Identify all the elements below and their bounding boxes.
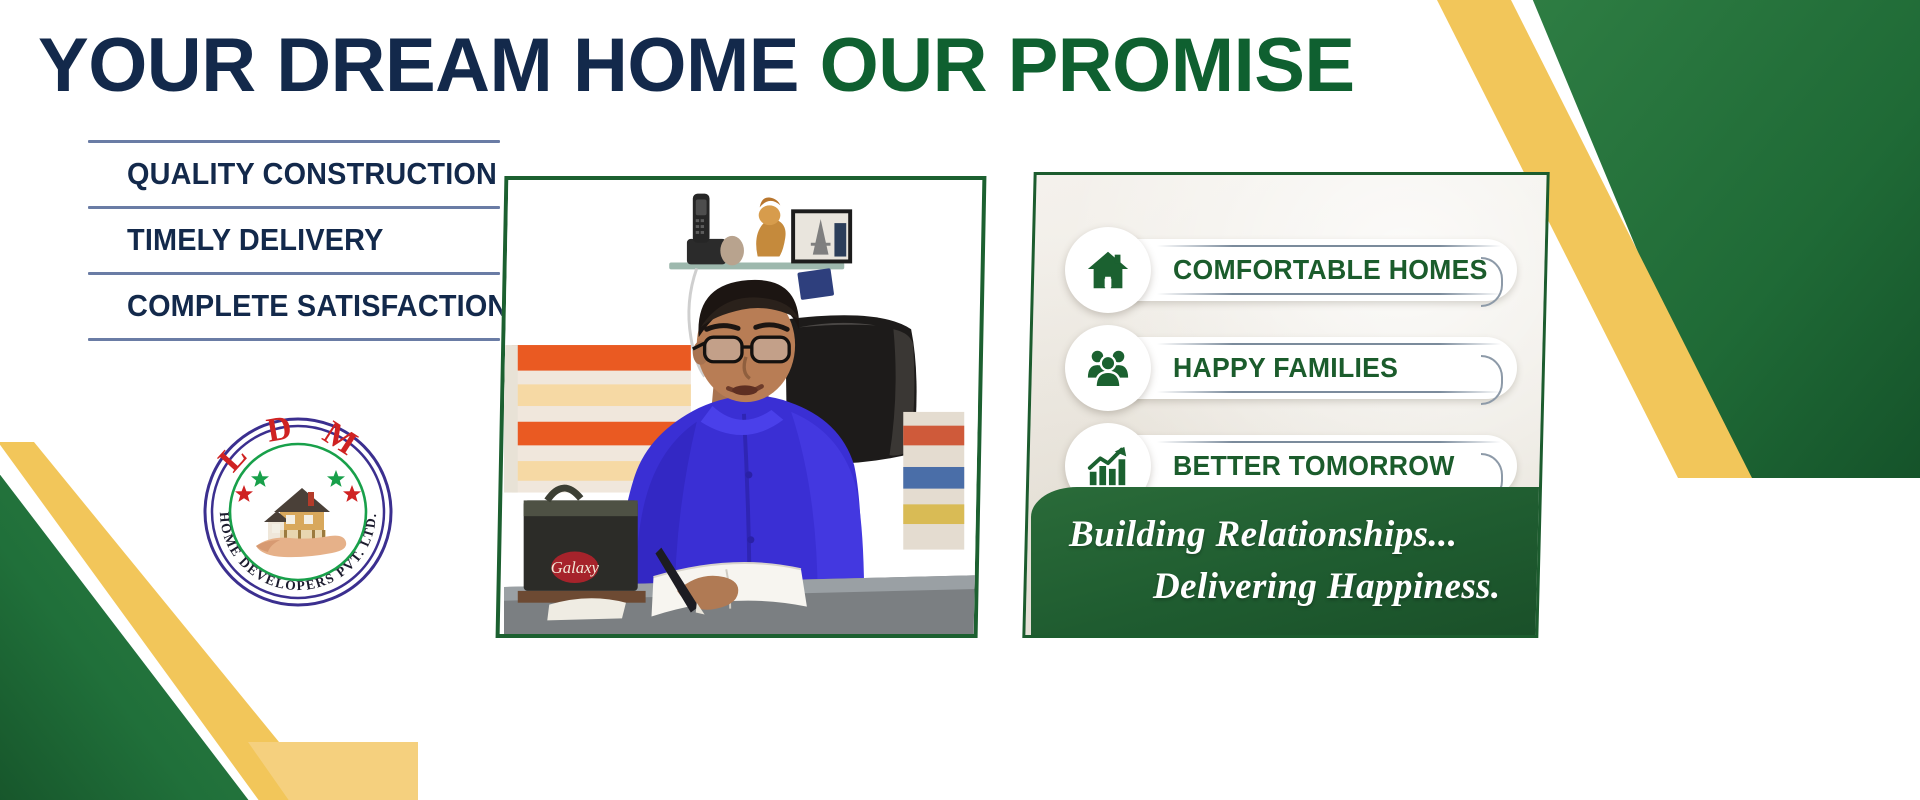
feature-item-timely-delivery: TIMELY DELIVERY xyxy=(88,209,471,272)
page-title: YOUR DREAM HOME OUR PROMISE xyxy=(38,28,1355,104)
feature-item-quality-construction: QUALITY CONSTRUCTION xyxy=(88,143,471,206)
feature-item-complete-satisfaction: COMPLETE SATISFACTION xyxy=(88,275,471,338)
people-group-icon xyxy=(1065,325,1151,411)
pill-label: HAPPY FAMILIES xyxy=(1173,325,1398,411)
feature-list: QUALITY CONSTRUCTION TIMELY DELIVERY COM… xyxy=(88,140,500,341)
company-logo: L D M HOME DEVELOPERS PVT. LTD. xyxy=(198,412,398,612)
tagline-band: Building Relationships... Delivering Hap… xyxy=(1031,487,1541,635)
promotional-banner: YOUR DREAM HOME OUR PROMISE QUALITY CONS… xyxy=(0,0,1920,800)
headline-green-text: OUR PROMISE xyxy=(820,23,1355,108)
house-icon xyxy=(1065,227,1151,313)
promise-pill-comfortable-homes[interactable]: COMFORTABLE HOMES xyxy=(1065,227,1517,313)
promise-pill-list: COMFORTABLE HOMES xyxy=(1065,227,1517,521)
ldm-seal-icon: L D M HOME DEVELOPERS PVT. LTD. xyxy=(198,412,398,612)
pill-notch xyxy=(1481,355,1503,405)
promise-pill-happy-families[interactable]: HAPPY FAMILIES xyxy=(1065,325,1517,411)
office-photo-frame: Galaxy xyxy=(496,176,987,638)
businessman-writing-photo: Galaxy xyxy=(504,180,978,634)
tagline-line-1: Building Relationships... xyxy=(1069,513,1457,556)
pill-label: COMFORTABLE HOMES xyxy=(1173,227,1488,313)
promise-panel: COMFORTABLE HOMES xyxy=(1022,172,1549,638)
svg-text:Galaxy: Galaxy xyxy=(551,558,600,577)
feature-divider xyxy=(88,338,500,341)
tagline-line-2: Delivering Happiness. xyxy=(1153,565,1501,608)
headline-navy-text: YOUR DREAM HOME xyxy=(38,23,799,108)
